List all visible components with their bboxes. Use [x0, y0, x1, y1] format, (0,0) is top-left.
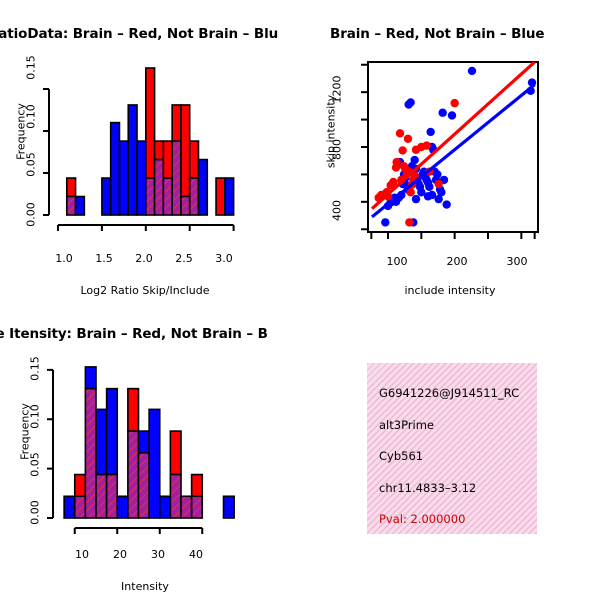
panel-intensity-scatter: Brain – Red, Not Brain – Blue skip inten…: [300, 0, 600, 310]
scatter-canvas: [300, 0, 600, 300]
gene-info-box: G6941226@J914511_RC alt3Prime Cyb561 chr…: [367, 363, 537, 534]
ratio-histogram-canvas: [0, 0, 300, 300]
panel-ratio-histogram: RatioData: Brain – Red, Not Brain – Blu …: [0, 0, 300, 310]
info-line-locus: chr11.4833–3.12: [379, 482, 537, 495]
info-line-pval: Pval: 2.000000: [379, 513, 537, 526]
panel-intensity-histogram: ne Itensity: Brain – Red, Not Brain – B …: [0, 300, 300, 600]
info-box-lines: G6941226@J914511_RC alt3Prime Cyb561 chr…: [367, 363, 537, 534]
info-line-gene-name: Cyb561: [379, 450, 537, 463]
intensity-histogram-canvas: [0, 300, 300, 600]
info-line-event-type: alt3Prime: [379, 419, 537, 432]
info-line-probe-id: G6941226@J914511_RC: [379, 387, 537, 400]
